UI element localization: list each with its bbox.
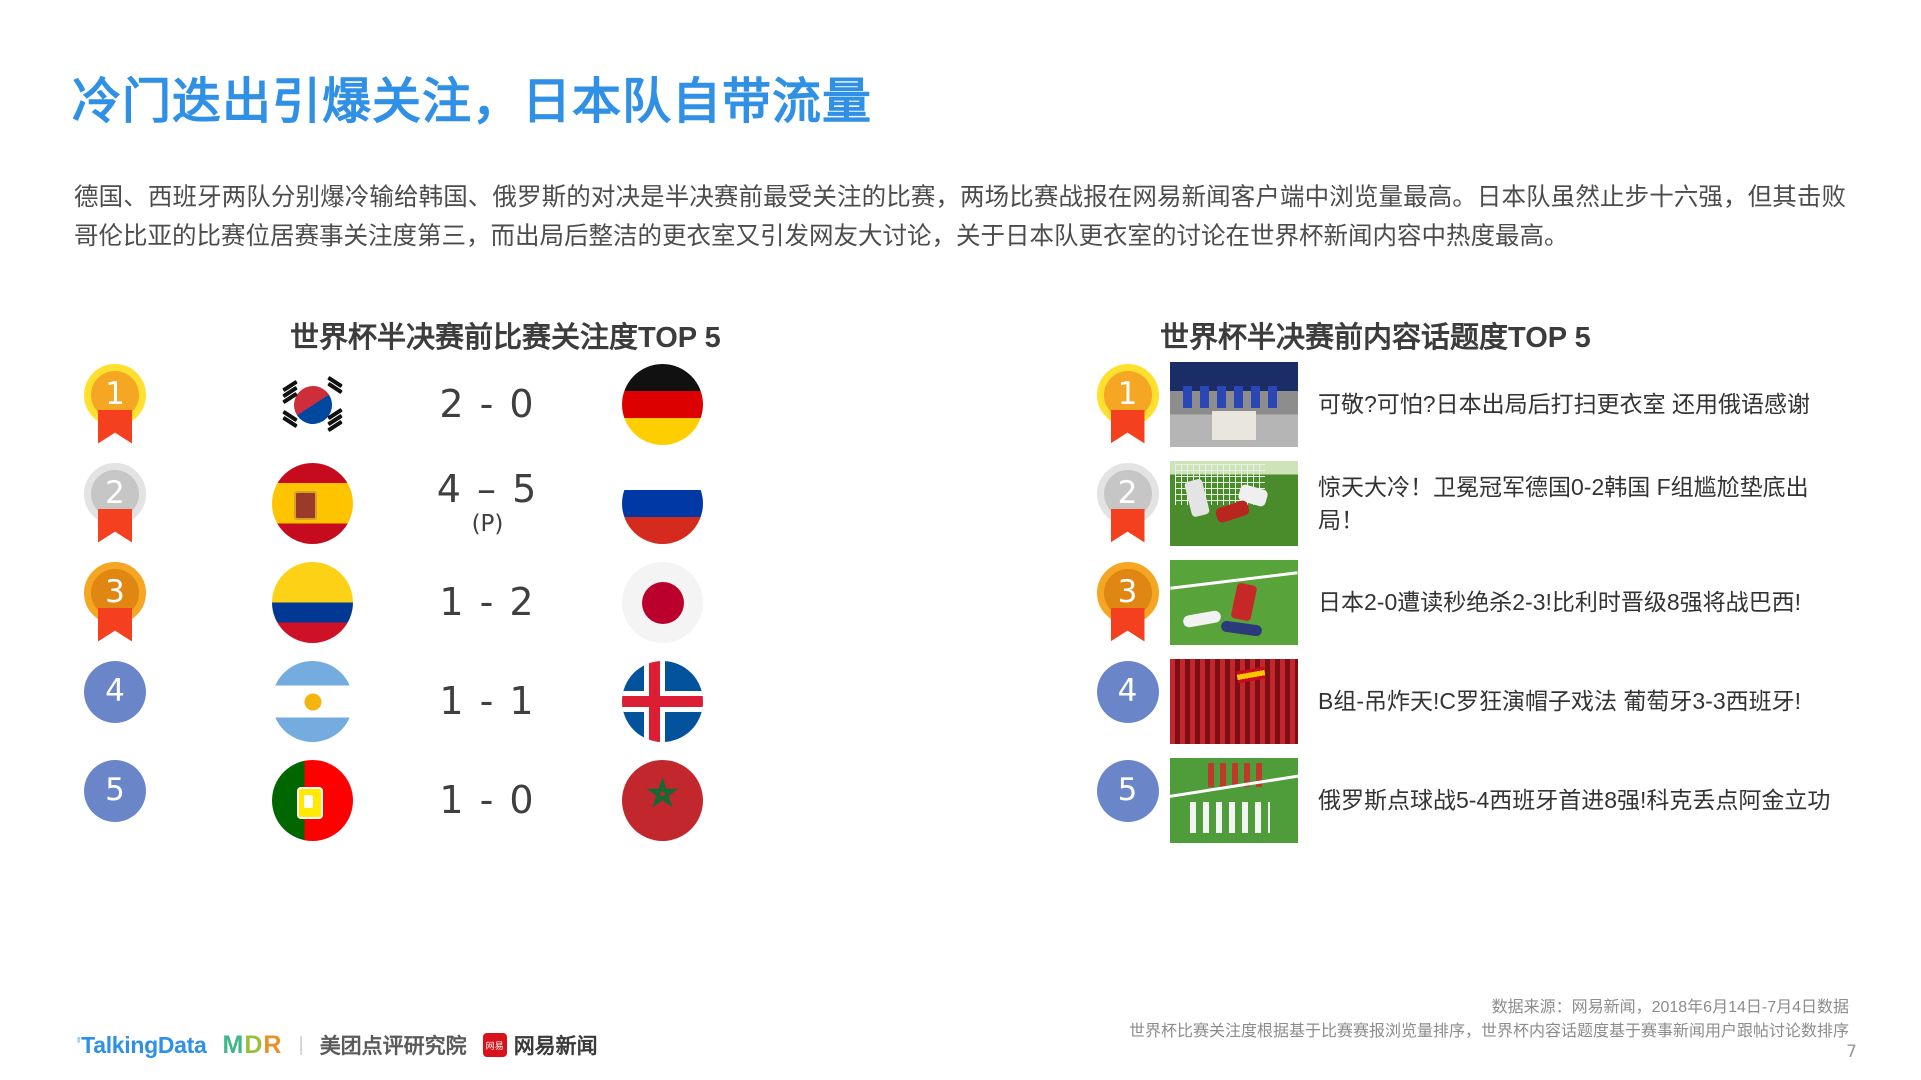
mdr-m: M bbox=[223, 1031, 245, 1059]
netease-news-logo: 网易 网易新闻 bbox=[483, 1030, 598, 1060]
news-thumbnail bbox=[1170, 362, 1298, 447]
score-note: (P) bbox=[395, 512, 580, 536]
news-row: 4 B组-吊炸天!C罗狂演帽子戏法 葡萄牙3-3西班牙! bbox=[1085, 652, 1905, 751]
away-flag-cell bbox=[580, 760, 745, 841]
ribbon-icon bbox=[1111, 410, 1145, 444]
match-row: 3 1 - 2 bbox=[0, 553, 880, 652]
rank-badge-2: 2 bbox=[1097, 463, 1159, 545]
home-flag-cell bbox=[230, 760, 395, 841]
ribbon-icon bbox=[1111, 608, 1145, 642]
home-flag-cell bbox=[230, 463, 395, 544]
rank-badge-2: 2 bbox=[84, 463, 146, 545]
rank-badge-1: 1 bbox=[84, 364, 146, 446]
rank-cell: 3 bbox=[1085, 562, 1170, 644]
ribbon-icon bbox=[98, 608, 132, 642]
rank-badge-5: 5 bbox=[1097, 760, 1159, 842]
rank-cell: 2 bbox=[1085, 463, 1170, 545]
news-headline[interactable]: 惊天大冷！卫冕冠军德国0-2韩国 F组尴尬垫底出局！ bbox=[1318, 471, 1838, 537]
page-title: 冷门迭出引爆关注，日本队自带流量 bbox=[72, 62, 872, 133]
flag-morocco-icon bbox=[622, 760, 703, 841]
rank-cell: 3 bbox=[0, 562, 230, 644]
match-ranking-list: 1 bbox=[0, 355, 880, 850]
ribbon-icon bbox=[1111, 509, 1145, 543]
rank-number: 5 bbox=[84, 760, 146, 822]
rank-badge-5: 5 bbox=[84, 760, 146, 842]
news-thumbnail bbox=[1170, 758, 1298, 843]
home-flag-cell bbox=[230, 364, 395, 445]
match-row: 1 bbox=[0, 355, 880, 454]
rank-cell: 4 bbox=[1085, 661, 1170, 743]
news-row: 2 惊天大冷！卫冕冠军德国0-2韩国 F组尴尬垫底出局！ bbox=[1085, 454, 1905, 553]
mdr-r: R bbox=[263, 1031, 282, 1059]
away-flag-cell bbox=[580, 364, 745, 445]
rank-badge-1: 1 bbox=[1097, 364, 1159, 446]
left-section-title: 世界杯半决赛前比赛关注度TOP 5 bbox=[290, 314, 721, 356]
news-thumbnail bbox=[1170, 659, 1298, 744]
home-flag-cell bbox=[230, 661, 395, 742]
flag-germany-icon bbox=[622, 364, 703, 445]
news-headline[interactable]: 俄罗斯点球战5-4西班牙首进8强!科克丢点阿金立功 bbox=[1318, 784, 1830, 817]
rank-cell: 1 bbox=[1085, 364, 1170, 446]
news-headline[interactable]: 可敬?可怕?日本出局后打扫更衣室 还用俄语感谢 bbox=[1318, 388, 1810, 421]
page-number: 7 bbox=[1846, 1042, 1857, 1062]
score-text: 4 – 5 bbox=[437, 467, 539, 511]
logo-bar: 'TalkingData MDR | 美团点评研究院 网易 网易新闻 bbox=[76, 1030, 598, 1060]
talkingdata-label: TalkingData bbox=[81, 1032, 206, 1058]
news-ranking-list: 1 可敬?可怕?日本出局后打扫更衣室 还用俄语感谢 2 惊天大冷！卫冕冠军德国0… bbox=[1085, 355, 1905, 850]
match-row: 4 1 - 1 bbox=[0, 652, 880, 751]
flag-argentina-icon bbox=[272, 661, 353, 742]
news-thumbnail bbox=[1170, 461, 1298, 546]
home-flag-cell bbox=[230, 562, 395, 643]
ribbon-icon bbox=[98, 410, 132, 444]
rank-cell: 5 bbox=[1085, 760, 1170, 842]
score-text: 2 - 0 bbox=[439, 382, 535, 426]
morocco-star-icon bbox=[622, 760, 703, 841]
rank-number: 4 bbox=[1097, 661, 1159, 723]
logo-separator: | bbox=[298, 1034, 303, 1057]
lede-paragraph: 德国、西班牙两队分别爆冷输给韩国、俄罗斯的对决是半决赛前最受关注的比赛，两场比赛… bbox=[74, 178, 1846, 256]
flag-japan-icon bbox=[622, 562, 703, 643]
match-row: 5 1 - 0 bbox=[0, 751, 880, 850]
source-note: 数据来源：网易新闻，2018年6月14日-7月4日数据 世界杯比赛关注度根据基于… bbox=[1129, 996, 1849, 1044]
ribbon-icon bbox=[98, 509, 132, 543]
rank-badge-4: 4 bbox=[84, 661, 146, 743]
flag-colombia-icon bbox=[272, 562, 353, 643]
news-headline[interactable]: 日本2-0遭读秒绝杀2-3!比利时晋级8强将战巴西! bbox=[1318, 586, 1801, 619]
score-text: 1 - 0 bbox=[439, 778, 535, 822]
mdr-d: D bbox=[244, 1031, 263, 1059]
flag-spain-icon bbox=[272, 463, 353, 544]
score-cell: 4 – 5 (P) bbox=[395, 470, 580, 536]
match-row: 2 4 – 5 (P) bbox=[0, 454, 880, 553]
news-thumbnail bbox=[1170, 560, 1298, 645]
news-row: 1 可敬?可怕?日本出局后打扫更衣室 还用俄语感谢 bbox=[1085, 355, 1905, 454]
rank-badge-4: 4 bbox=[1097, 661, 1159, 743]
news-headline[interactable]: B组-吊炸天!C罗狂演帽子戏法 葡萄牙3-3西班牙! bbox=[1318, 685, 1801, 718]
score-text: 1 - 2 bbox=[439, 580, 535, 624]
score-cell: 1 - 1 bbox=[395, 682, 580, 722]
away-flag-cell bbox=[580, 562, 745, 643]
rank-cell: 5 bbox=[0, 760, 230, 842]
away-flag-cell bbox=[580, 661, 745, 742]
rank-number: 4 bbox=[84, 661, 146, 723]
rank-cell: 2 bbox=[0, 463, 230, 545]
score-cell: 2 - 0 bbox=[395, 385, 580, 425]
netease-mark-icon: 网易 bbox=[483, 1033, 507, 1057]
news-row: 5 俄罗斯点球战5-4西班牙首进8强!科克丢点阿金立功 bbox=[1085, 751, 1905, 850]
score-cell: 1 - 2 bbox=[395, 583, 580, 623]
rank-cell: 1 bbox=[0, 364, 230, 446]
rank-number: 5 bbox=[1097, 760, 1159, 822]
flag-portugal-icon bbox=[272, 760, 353, 841]
rank-badge-3: 3 bbox=[1097, 562, 1159, 644]
talkingdata-logo: 'TalkingData bbox=[76, 1032, 207, 1059]
right-section-title: 世界杯半决赛前内容话题度TOP 5 bbox=[1160, 314, 1591, 356]
netease-label: 网易新闻 bbox=[514, 1030, 598, 1060]
rank-badge-3: 3 bbox=[84, 562, 146, 644]
flag-korea-icon bbox=[272, 364, 353, 445]
score-text: 1 - 1 bbox=[439, 679, 535, 723]
score-cell: 1 - 0 bbox=[395, 781, 580, 821]
rank-cell: 4 bbox=[0, 661, 230, 743]
flag-russia-icon bbox=[622, 463, 703, 544]
news-row: 3 日本2-0遭读秒绝杀2-3!比利时晋级8强将战巴西! bbox=[1085, 553, 1905, 652]
mdr-logo: MDR bbox=[223, 1031, 283, 1060]
slide: 冷门迭出引爆关注，日本队自带流量 德国、西班牙两队分别爆冷输给韩国、俄罗斯的对决… bbox=[0, 0, 1921, 1080]
meituan-research-label: 美团点评研究院 bbox=[320, 1030, 467, 1060]
flag-iceland-icon bbox=[622, 661, 703, 742]
source-line-1: 数据来源：网易新闻，2018年6月14日-7月4日数据 bbox=[1129, 996, 1849, 1020]
source-line-2: 世界杯比赛关注度根据基于比赛赛报浏览量排序，世界杯内容话题度基于赛事新闻用户跟帖… bbox=[1129, 1020, 1849, 1044]
away-flag-cell bbox=[580, 463, 745, 544]
